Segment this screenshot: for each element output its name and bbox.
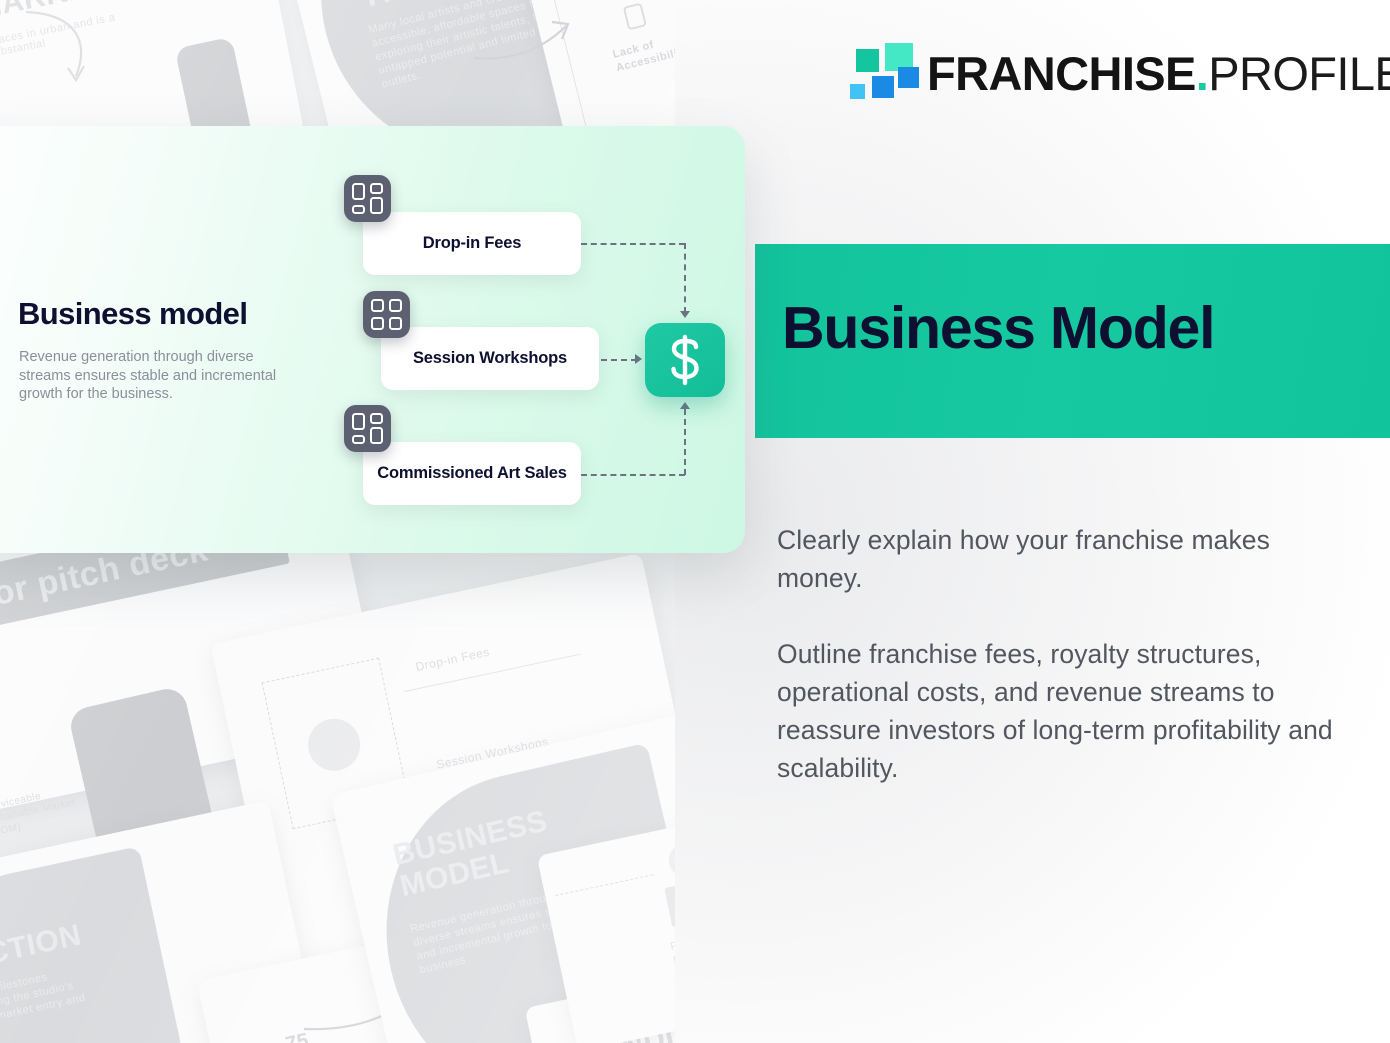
bg-pricing-circle: [666, 840, 675, 880]
logo-word-profiles: PROFILES: [1208, 47, 1390, 100]
description-paragraph-2: Outline franchise fees, royalty structur…: [777, 635, 1349, 787]
grid-icon: [344, 405, 391, 452]
logo-word-franchise: FRANCHISE: [927, 47, 1196, 100]
logo-square-blue-light: [850, 84, 865, 99]
dollar-sign-icon: [665, 334, 705, 386]
section-banner: Business Model: [755, 244, 1390, 438]
brand-logo[interactable]: FRANCHISE.PROFILES: [849, 40, 1344, 108]
logo-dot: .: [1196, 47, 1208, 100]
bg-label: Lack of Accessibility: [611, 26, 675, 75]
logo-square-blue-mid: [872, 76, 894, 98]
node-label: Drop-in Fees: [411, 233, 533, 254]
page-title: Business Model: [782, 294, 1214, 362]
logo-square-teal-dark: [856, 49, 879, 72]
bg-label: Drop-in Fees: [414, 645, 491, 674]
card-heading: Business model: [18, 296, 247, 332]
description-paragraph-1: Clearly explain how your franchise makes…: [777, 521, 1349, 597]
logo-squares-icon: [849, 43, 911, 105]
grid-icon: [344, 175, 391, 222]
revenue-stream-node[interactable]: Commissioned Art Sales: [363, 442, 581, 505]
bg-doc-icon: [621, 1, 649, 32]
revenue-stream-node[interactable]: Drop-in Fees: [363, 212, 581, 275]
revenue-stream-node[interactable]: Session Workshops: [381, 327, 599, 390]
bg-arrow-curve-2: [470, 10, 580, 80]
logo-square-blue: [898, 67, 919, 88]
bg-arrow-curve-1: [18, 0, 108, 108]
revenue-hub-badge[interactable]: [645, 323, 725, 397]
node-label: Commissioned Art Sales: [365, 463, 578, 484]
card-subtitle: Revenue generation through diverse strea…: [19, 348, 307, 404]
grid-icon: [363, 291, 410, 338]
slide-preview-card[interactable]: Business model Revenue generation throug…: [0, 126, 745, 553]
node-label: Session Workshops: [401, 348, 579, 369]
logo-wordmark: FRANCHISE.PROFILES: [927, 40, 1390, 108]
